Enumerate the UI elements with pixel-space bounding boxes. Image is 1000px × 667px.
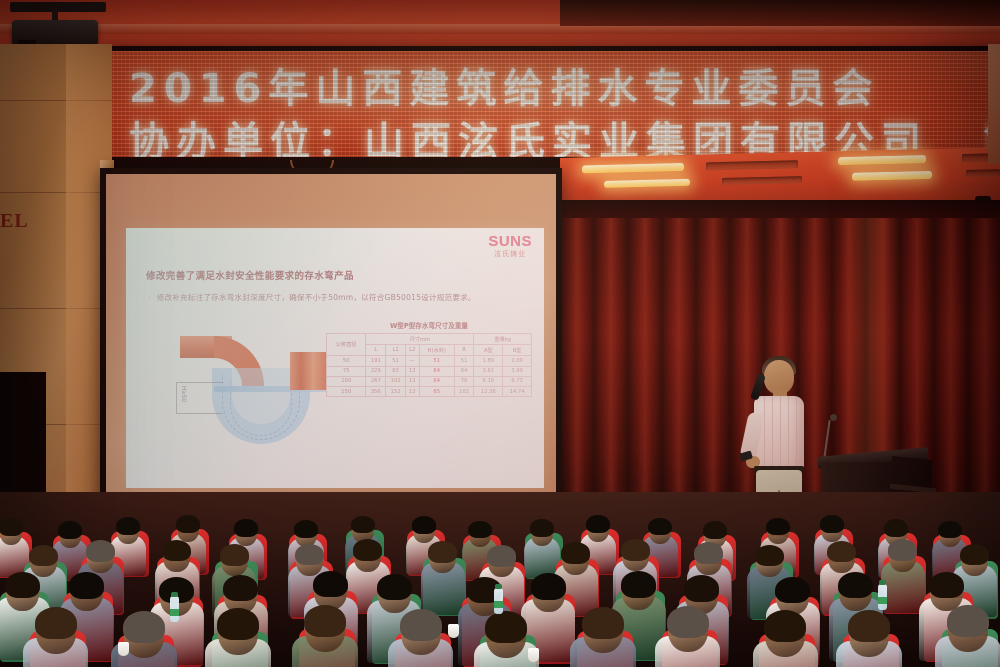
table-cell: 6.73 <box>503 376 532 386</box>
table-cell: 64 <box>419 376 454 386</box>
table-cell: 150 <box>327 386 366 396</box>
audience-person-hair <box>412 516 436 534</box>
table-cell: 102 <box>454 386 474 396</box>
audience-person-hair <box>400 609 442 641</box>
water-bottle <box>494 588 503 614</box>
table-cell: 2.09 <box>503 356 532 366</box>
table-cell: 3.99 <box>503 366 532 376</box>
trap-outlet-riser-2 <box>312 352 326 390</box>
audience-person-hair <box>694 542 723 564</box>
venue-sign-text: EL <box>0 210 29 233</box>
slide-bullet-item: ·修改补充标注了存水弯水封深度尺寸，确保不小于50mm，以符合GB50015设计… <box>148 292 476 303</box>
table-row: 75229831364643.613.99 <box>327 366 532 376</box>
audience-person-hair <box>827 541 856 563</box>
table-cell: — <box>405 356 419 366</box>
audience-person-hair <box>313 571 348 597</box>
table-cell: 6.15 <box>474 376 503 386</box>
audience-person-hair <box>766 518 790 536</box>
table-cell: 12.36 <box>474 386 503 396</box>
audience-person-hair <box>820 515 844 533</box>
table-cell: 356 <box>366 386 386 396</box>
table-cell: 102 <box>386 376 406 386</box>
audience-person-hair <box>648 518 672 536</box>
audience-person-hair <box>960 544 989 566</box>
audience-person-hair <box>220 544 249 566</box>
led-pixel-grid <box>105 51 1000 157</box>
audience-person-hair <box>703 521 727 539</box>
audience-person-hair <box>58 521 82 539</box>
audience-person-hair <box>0 518 23 536</box>
table-row: 150356152136510212.3614.74 <box>327 386 532 396</box>
audience-person-hair <box>353 539 382 561</box>
trap-outlet-riser <box>290 352 312 390</box>
audience-person-hair <box>586 515 610 533</box>
audience-person-hair <box>561 542 590 564</box>
table-cell: 14.74 <box>503 386 532 396</box>
audience-person-hair <box>86 540 115 562</box>
suns-logo-brand: SUNS <box>488 234 532 249</box>
ceiling-light <box>852 171 932 181</box>
audience-person-hair <box>69 572 104 598</box>
audience-person-hair <box>621 571 656 597</box>
table-cell: 51 <box>454 356 474 366</box>
table-cell: 100 <box>327 376 366 386</box>
table-cell: 65 <box>419 386 454 396</box>
ceiling-light <box>582 163 684 173</box>
audience-person-hair <box>755 545 784 567</box>
ceiling-vent <box>966 169 1000 177</box>
audience-person-hair <box>377 574 412 600</box>
ceiling-vent <box>722 176 802 185</box>
audience-person-hair <box>530 519 554 537</box>
audience-person-hair <box>775 577 810 603</box>
table-col-header: A型 <box>474 345 503 356</box>
slide-bullet-text: 修改补充标注了存水弯水封深度尺寸，确保不小于50mm，以符合GB50015设计规… <box>157 293 476 302</box>
audience-person-hair <box>162 540 191 562</box>
table-col-header: R <box>454 345 474 356</box>
audience-person-hair <box>487 545 516 567</box>
audience-person-hair <box>838 572 873 598</box>
audience-person-hair <box>295 544 324 566</box>
table-cell: 1.89 <box>474 356 503 366</box>
table-col-header: L <box>366 345 386 356</box>
suns-logo-subtitle: 泫氏铸业 <box>488 251 532 258</box>
led-banner: 2016年山西建筑给排水专业委员会 协办单位：山西泫氏实业集团有限公司 第 <box>100 46 1000 162</box>
table-cell: 191 <box>366 356 386 366</box>
audience-person-hair <box>294 520 318 538</box>
led-screen: 2016年山西建筑给排水专业委员会 协办单位：山西泫氏实业集团有限公司 第 <box>105 51 1000 157</box>
right-wall-sliver <box>988 44 1000 164</box>
ceiling-dark-strip <box>560 0 1000 26</box>
audience-person-hair <box>428 541 457 563</box>
table-cell: 229 <box>366 366 386 376</box>
slide-title: 修改完善了满足水封安全性能要求的存水弯产品 <box>146 268 354 282</box>
paper-cup <box>118 642 129 656</box>
audience-person-hair <box>29 545 58 567</box>
table-cell: 76 <box>454 376 474 386</box>
audience-person-hair <box>217 608 259 640</box>
audience-person-hair <box>929 572 964 598</box>
audience-person-hair <box>5 572 40 598</box>
audience-person-hair <box>123 611 165 643</box>
table-cell: 3.61 <box>474 366 503 376</box>
audience-person-hair <box>667 606 709 638</box>
suns-logo: SUNS 泫氏铸业 <box>488 234 532 258</box>
audience-person-hair <box>947 605 989 637</box>
paper-cup <box>448 624 459 638</box>
presenter-head <box>764 360 794 394</box>
trap-dimension-label: H≥50 <box>180 386 186 402</box>
table-cell: 50 <box>327 356 366 366</box>
audience-person-hair <box>938 521 962 539</box>
table-cell: 13 <box>405 386 419 396</box>
audience-person-hair <box>351 516 375 534</box>
spec-table: 公称直径 尺寸mm 重量kg LL1L2H(水封)RA型B型 5019151—5… <box>326 333 532 397</box>
presentation-slide: SUNS 泫氏铸业 修改完善了满足水封安全性能要求的存水弯产品 ·修改补充标注了… <box>126 228 544 488</box>
group-header-weight: 重量kg <box>474 334 532 345</box>
audience-person-hair <box>621 539 650 561</box>
audience-person-hair <box>884 519 908 537</box>
table-body: 5019151—51511.892.0975229831364643.613.9… <box>327 356 532 397</box>
podium-mic-head-icon <box>830 414 837 421</box>
table-cell: 64 <box>419 366 454 376</box>
audience-person-hair <box>764 610 806 642</box>
conference-hall-photo: 2016年山西建筑给排水专业委员会 协办单位：山西泫氏实业集团有限公司 第 EL <box>0 0 1000 667</box>
audience-person-hair <box>848 610 890 642</box>
table-cell: 64 <box>454 366 474 376</box>
table-cell: 51 <box>386 356 406 366</box>
audience-person-hair <box>223 575 258 601</box>
table-cell: 51 <box>419 356 454 366</box>
audience-person-hair <box>684 575 719 601</box>
audience-person-hair <box>531 573 566 599</box>
audience-person-hair <box>35 607 77 639</box>
projector-mount <box>10 2 106 12</box>
p-trap-diagram: H≥50 <box>174 328 344 448</box>
table-col-header: L2 <box>405 345 419 356</box>
water-bottle <box>878 584 887 610</box>
table-col-header: H(水封) <box>419 345 454 356</box>
table-cell: 267 <box>366 376 386 386</box>
table-group-header-row: 公称直径 尺寸mm 重量kg <box>327 334 532 345</box>
audience-person-hair <box>116 517 140 535</box>
audience-person-hair <box>888 539 917 561</box>
water-bottle <box>170 596 179 622</box>
paper-cup <box>528 648 539 662</box>
table-col-header: B型 <box>503 345 532 356</box>
group-header-dn: 公称直径 <box>327 334 366 356</box>
table-cell: 152 <box>386 386 406 396</box>
ceiling-light <box>604 179 690 188</box>
spec-table-caption: W型P型存水弯尺寸及重量 <box>326 320 532 330</box>
audience-person-hair <box>468 521 492 539</box>
audience-person-hair <box>304 605 346 637</box>
ceiling-vent <box>706 160 798 170</box>
audience-person-hair <box>176 515 200 533</box>
table-cell: 13 <box>405 376 419 386</box>
audience-person-hair <box>234 519 258 537</box>
audience-person-hair <box>582 607 624 639</box>
table-col-header: L1 <box>386 345 406 356</box>
spec-table-wrapper: W型P型存水弯尺寸及重量 公称直径 尺寸mm 重量kg LL1L2H(水封)RA… <box>326 320 532 397</box>
table-cell: 13 <box>405 366 419 376</box>
table-row: 1002671021364766.156.73 <box>327 376 532 386</box>
audience-person-hair <box>485 611 527 643</box>
table-cell: 75 <box>327 366 366 376</box>
group-header-dims: 尺寸mm <box>366 334 474 345</box>
audience <box>0 492 1000 667</box>
table-cell: 83 <box>386 366 406 376</box>
table-row: 5019151—51511.892.09 <box>327 356 532 366</box>
bullet-marker-icon: · <box>148 293 151 302</box>
ceiling-light <box>838 155 926 165</box>
